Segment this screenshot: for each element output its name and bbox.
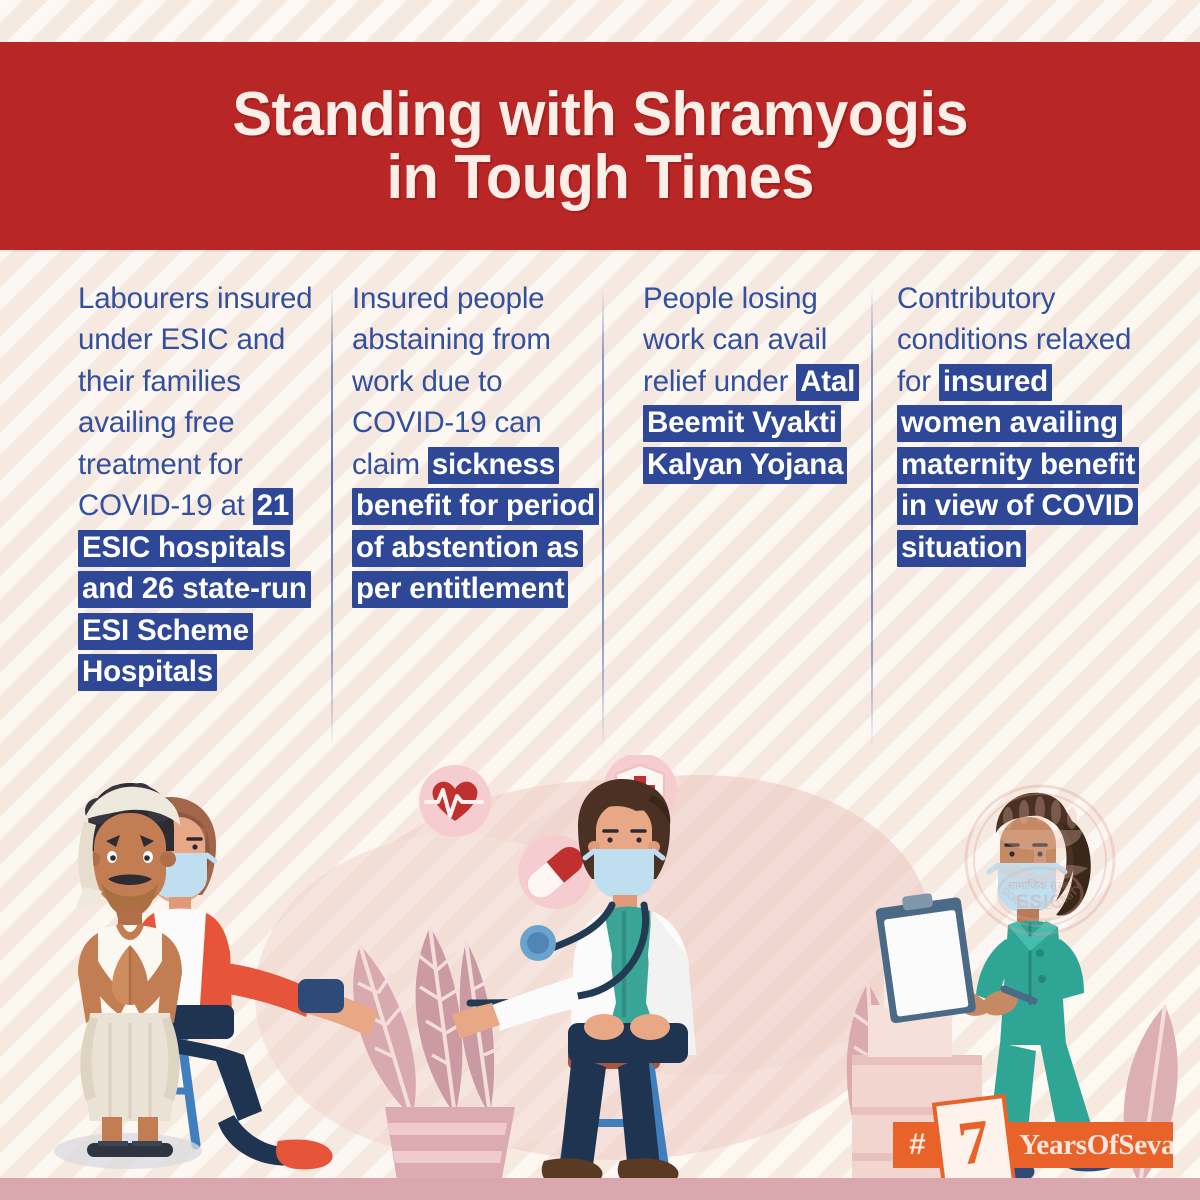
benefit-1-plain: Labourers insured under ESIC and their f…: [78, 282, 312, 522]
badge-seven-number: 7: [936, 1098, 1012, 1187]
top-strip: [0, 0, 1200, 42]
badge-words: YearsOfSeva: [1019, 1130, 1175, 1160]
page-title: Standing with Shramyogis in Tough Times: [232, 83, 968, 209]
benefit-columns: Labourers insured under ESIC and their f…: [0, 278, 1200, 778]
column-divider-3: [871, 288, 873, 750]
poster-root: Standing with Shramyogis in Tough Times …: [0, 0, 1200, 1200]
benefit-column-4: Contributory conditions relaxed for insu…: [897, 278, 1147, 568]
badge-seven-card: 7: [936, 1098, 1012, 1187]
title-line-2: in Tough Times: [232, 146, 968, 209]
bottom-accent-bar: [0, 1178, 1200, 1200]
esic-seal-svg: सामाजिक सुरक्षा ESIC SOCIAL SECURITY: [962, 782, 1118, 938]
column-divider-2: [602, 288, 604, 750]
esic-seal-watermark: सामाजिक सुरक्षा ESIC SOCIAL SECURITY: [962, 782, 1118, 938]
title-line-1: Standing with Shramyogis: [232, 80, 968, 149]
benefit-column-2: Insured people abstaining from work due …: [352, 278, 596, 610]
heartbeat-icon: [419, 765, 491, 837]
badge-hash: #: [909, 1130, 926, 1160]
column-divider-1: [331, 288, 333, 748]
benefit-column-3: People losing work can avail relief unde…: [643, 278, 858, 485]
benefit-column-1: Labourers insured under ESIC and their f…: [78, 278, 314, 692]
years-of-seva-badge: # 7 YearsOfSeva: [893, 1116, 1173, 1174]
poster-header: Standing with Shramyogis in Tough Times: [0, 42, 1200, 250]
seal-hindi: सामाजिक सुरक्षा: [1007, 878, 1074, 893]
